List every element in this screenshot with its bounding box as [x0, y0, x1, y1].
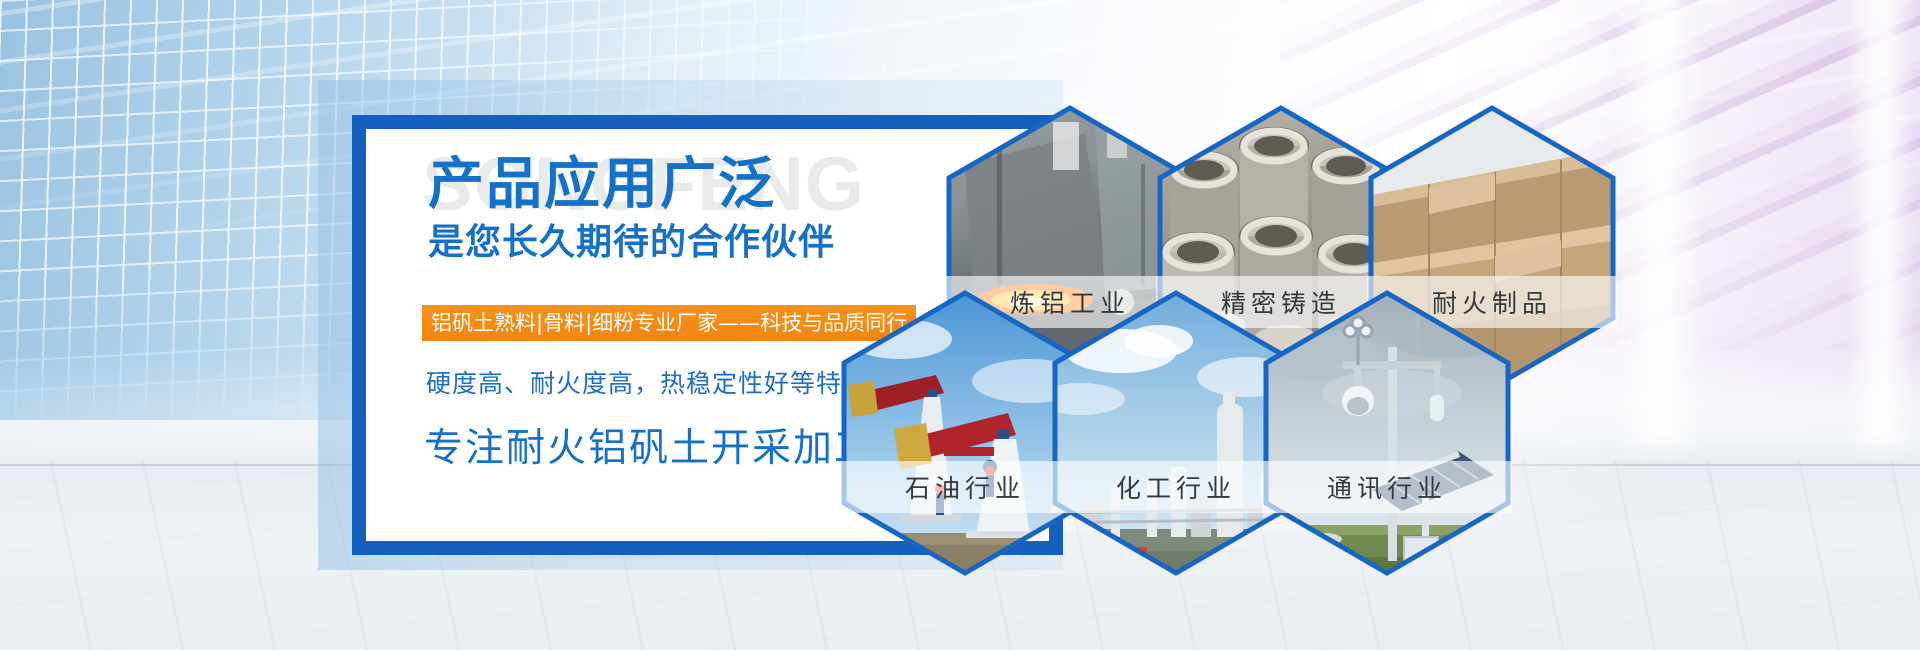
hexagon-gallery: 炼铝工业 — [0, 0, 1920, 650]
banner-stage: SONGFENG 产品应用广泛 是您长久期待的合作伙伴 铝矾土熟料|骨料|细粉专… — [0, 0, 1920, 650]
hex-tile-tongxun[interactable]: 通讯行业 — [1262, 289, 1512, 577]
